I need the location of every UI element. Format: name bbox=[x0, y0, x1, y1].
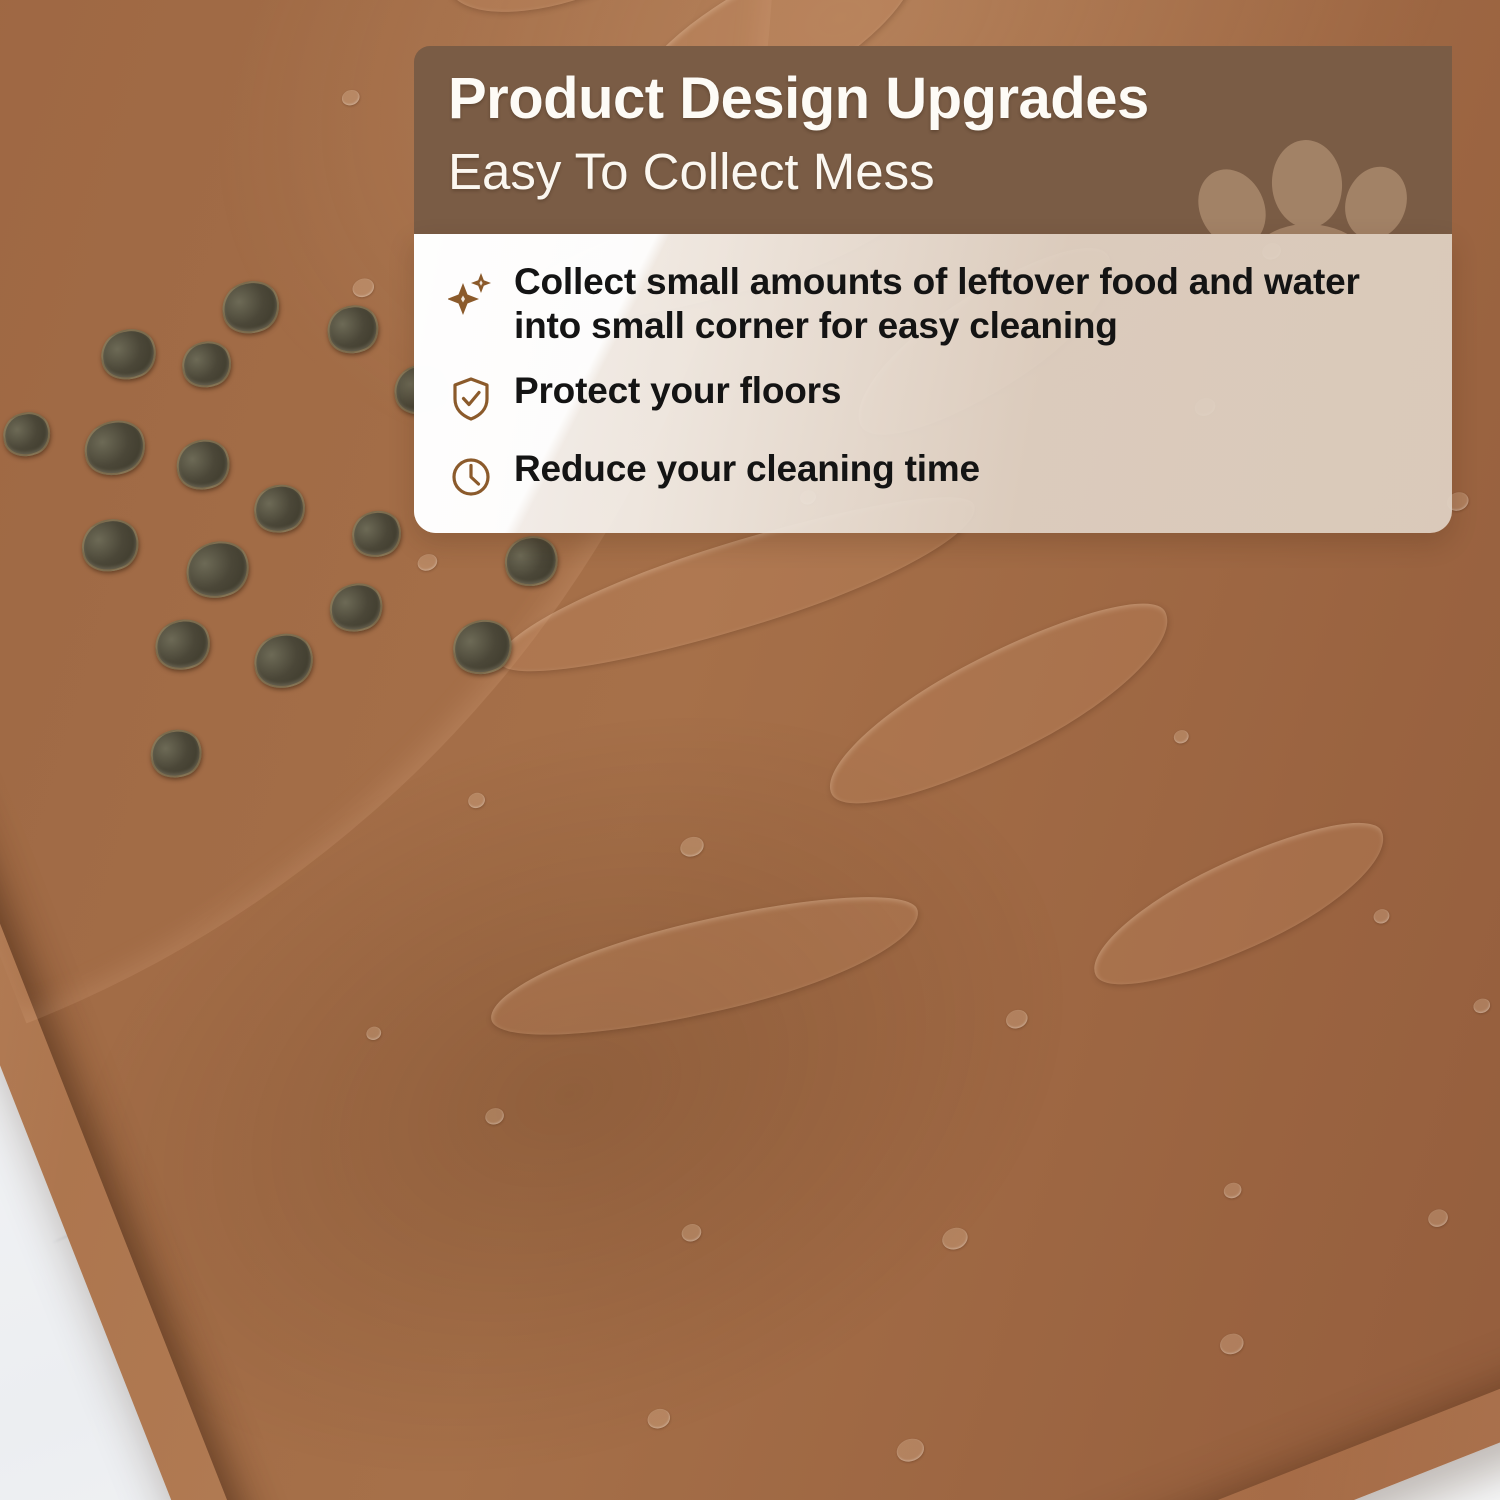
feature-text: Collect small amounts of leftover food a… bbox=[514, 260, 1418, 347]
feature-text: Protect your floors bbox=[514, 369, 841, 413]
feature-text: Reduce your cleaning time bbox=[514, 447, 980, 491]
card-header: Product Design Upgrades Easy To Collect … bbox=[414, 46, 1452, 234]
product-marketing-image: Sinhoo Product Design Upgrades Easy To C… bbox=[0, 0, 1500, 1500]
clock-icon bbox=[448, 451, 494, 503]
page-subtitle: Easy To Collect Mess bbox=[448, 146, 1418, 197]
card-body: Collect small amounts of leftover food a… bbox=[414, 234, 1452, 533]
page-title: Product Design Upgrades bbox=[448, 70, 1418, 128]
feature-list: Collect small amounts of leftover food a… bbox=[448, 260, 1418, 503]
info-overlay-card: Product Design Upgrades Easy To Collect … bbox=[414, 46, 1452, 533]
list-item: Reduce your cleaning time bbox=[448, 447, 1418, 503]
shield-check-icon bbox=[448, 373, 494, 425]
list-item: Collect small amounts of leftover food a… bbox=[448, 260, 1418, 347]
sparkle-icon bbox=[448, 270, 494, 322]
list-item: Protect your floors bbox=[448, 369, 1418, 425]
